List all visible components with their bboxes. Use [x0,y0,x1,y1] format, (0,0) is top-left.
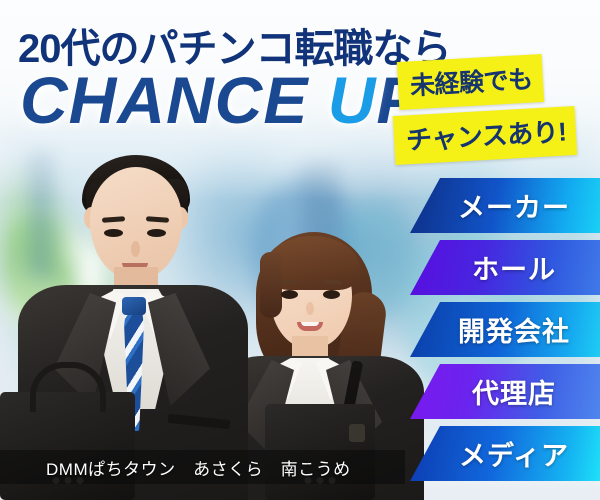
category-item-hall[interactable]: ホール [410,240,600,295]
category-label-maker: メーカー [440,186,570,225]
headline-chance-text: CHANCE [20,63,328,137]
woman-nose [306,302,314,315]
man-tie-knot [122,297,146,315]
headline-u-letter: U [328,63,377,137]
category-item-media[interactable]: メディア [410,426,600,481]
briefcase-right-clasp [349,424,365,442]
woman-eye-right [323,290,340,299]
caption-text: DMMぱちタウン あさくら 南こうめ [0,455,351,480]
category-label-agency: 代理店 [454,372,556,411]
category-label-hall: ホール [454,248,556,287]
category-label-development-company: 開発会社 [440,310,570,349]
man-nose [131,241,140,257]
advertisement-banner[interactable]: 20代のパチンコ転職なら CHANCE UP 未経験でも チャンスあり! メーカ… [0,0,600,500]
category-list: メーカー ホール 開発会社 代理店 メディア [410,178,600,481]
category-item-maker[interactable]: メーカー [410,178,600,233]
woman-eye-left [281,290,298,299]
category-label-media: メディア [441,434,569,473]
badge-chance-available: チャンスあり! [393,106,578,165]
headline-line-2: CHANCE UP [20,62,421,138]
category-item-agency[interactable]: 代理店 [410,364,600,419]
category-item-development-company[interactable]: 開発会社 [410,302,600,357]
man-eye-left [104,229,123,237]
caption-bar: DMMぱちタウン あさくら 南こうめ [0,450,405,484]
badge-no-experience: 未経験でも [397,54,544,110]
people-photo-group [0,140,430,500]
highlight-badges: 未経験でも チャンスあり! [394,58,594,160]
man-eye-right [147,229,166,237]
